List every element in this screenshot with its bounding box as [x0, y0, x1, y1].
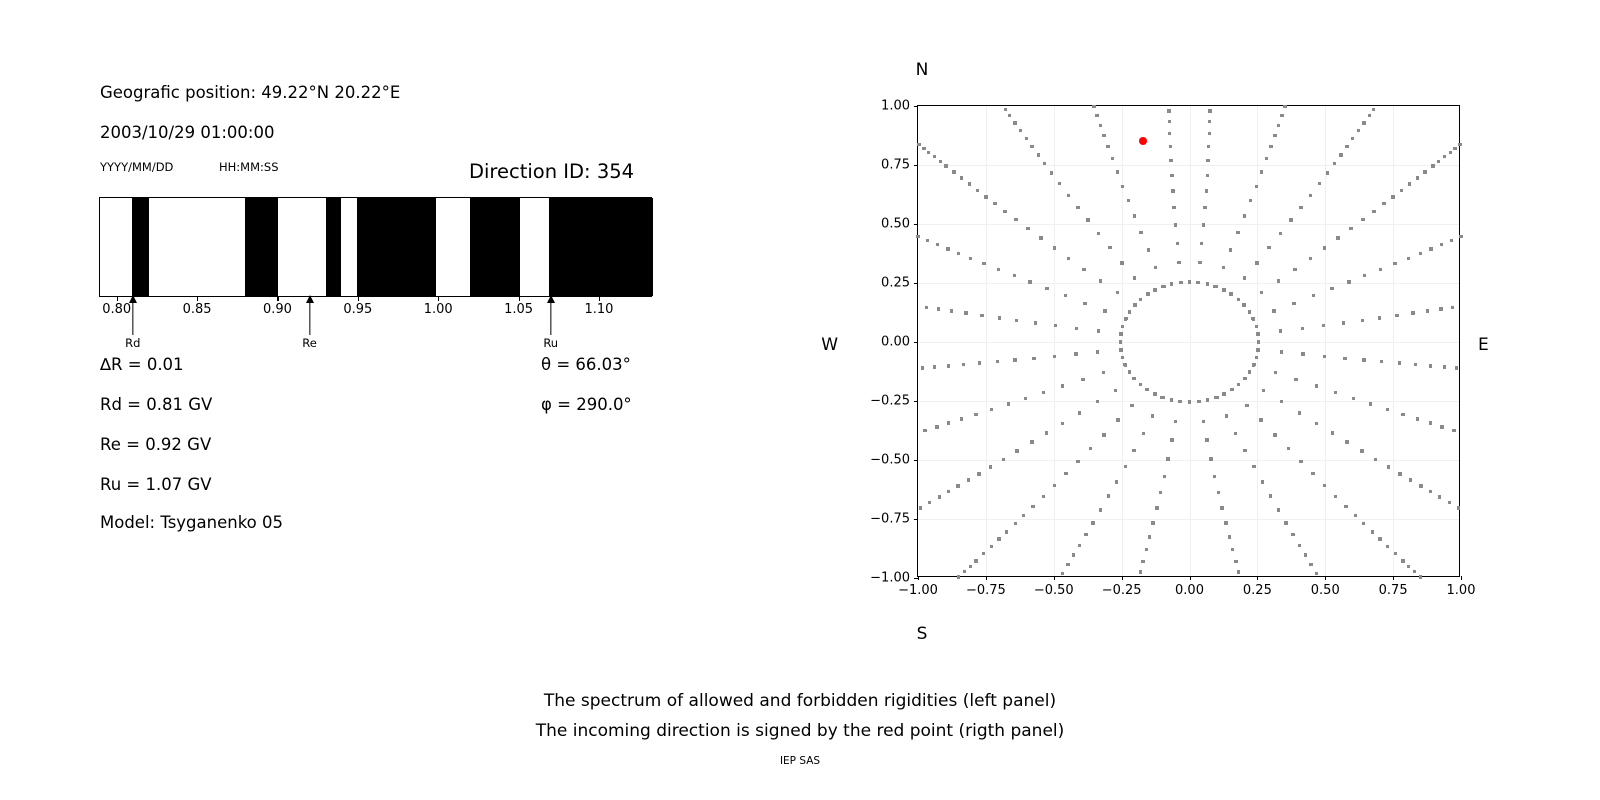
axis-tick-label: −0.25 [870, 394, 910, 409]
direction-point [1142, 432, 1145, 435]
direction-point [1169, 145, 1172, 148]
direction-point [1214, 396, 1217, 399]
direction-point [1124, 317, 1127, 320]
direction-point [947, 490, 950, 493]
arrow-up-icon [521, 295, 581, 335]
grid-line-vertical [1325, 106, 1326, 576]
direction-point [1106, 145, 1109, 148]
direction-point [1331, 431, 1334, 434]
axis-tick [914, 460, 918, 461]
direction-point [1426, 309, 1429, 312]
direction-point [1326, 171, 1329, 174]
direction-point [1323, 246, 1326, 249]
direction-point [1013, 358, 1016, 361]
direction-point [1042, 495, 1045, 498]
direction-point [1097, 329, 1100, 332]
direction-point [1064, 472, 1067, 475]
direction-point [1298, 411, 1301, 414]
axis-tick [914, 224, 918, 225]
direction-point [938, 495, 941, 498]
direction-point [1419, 252, 1422, 255]
direction-point [1255, 325, 1258, 328]
direction-point [1362, 121, 1365, 124]
axis-tick-label: 1.00 [424, 302, 453, 317]
rigidity-marker-ru: Ru [521, 295, 581, 350]
direction-point [1072, 553, 1075, 556]
direction-point [1261, 480, 1264, 483]
direction-point [1408, 182, 1411, 185]
direction-point [1429, 247, 1432, 250]
direction-point [1170, 398, 1173, 401]
direction-point [1361, 218, 1364, 221]
direction-point [1145, 548, 1148, 551]
direction-point [1236, 231, 1239, 234]
direction-point [1146, 293, 1149, 296]
axis-tick-label: 0.25 [1243, 583, 1272, 598]
direction-point [1168, 120, 1171, 123]
direction-point [1414, 363, 1417, 366]
direction-point [1243, 304, 1246, 307]
direction-point [1133, 377, 1136, 380]
direction-point [1089, 447, 1092, 450]
direction-point [1139, 570, 1142, 573]
axis-tick [1393, 576, 1394, 580]
direction-point [1148, 535, 1151, 538]
marker-label: Rd [103, 336, 163, 350]
direction-point [1287, 447, 1290, 450]
direction-point [1169, 159, 1172, 162]
direction-point [967, 478, 970, 481]
direction-point [1386, 408, 1389, 411]
direction-point [1167, 109, 1170, 112]
direction-point [1448, 501, 1451, 504]
direction-point [1398, 472, 1401, 475]
direction-point [976, 189, 979, 192]
direction-point [1255, 185, 1258, 188]
direction-point [984, 195, 987, 198]
direction-point [1378, 537, 1381, 540]
direction-point [1273, 433, 1276, 436]
direction-point [1121, 356, 1124, 359]
direction-point [1400, 189, 1403, 192]
direction-point [956, 484, 959, 487]
direction-point [1309, 257, 1312, 260]
direction-point [1361, 319, 1364, 322]
direction-point [993, 202, 996, 205]
direction-point [1243, 449, 1246, 452]
direction-point [1115, 480, 1118, 483]
direction-point [1015, 319, 1018, 322]
direction-point [1439, 307, 1442, 310]
axis-tick-label: 0.25 [881, 276, 910, 291]
figure-canvas: Geografic position: 49.22°N 20.22°E 2003… [0, 0, 1600, 800]
direction-point [1133, 276, 1136, 279]
direction-point [939, 160, 942, 163]
direction-point [1349, 227, 1352, 230]
direction-point [928, 501, 931, 504]
direction-point [1451, 306, 1454, 309]
direction-point [1111, 157, 1114, 160]
axis-tick-label: 0.75 [881, 158, 910, 173]
arrow-up-icon [103, 295, 163, 335]
axis-tick [914, 578, 918, 579]
direction-point [1061, 422, 1064, 425]
direction-point [957, 252, 960, 255]
direction-point [1166, 457, 1169, 460]
axis-tick [986, 576, 987, 580]
direction-point [1005, 530, 1008, 533]
direction-point [1368, 114, 1371, 117]
direction-point [1234, 432, 1237, 435]
direction-point [1213, 475, 1216, 478]
axis-tick [1190, 576, 1191, 580]
direction-point [1391, 195, 1394, 198]
direction-point [1330, 287, 1333, 290]
direction-point [963, 570, 966, 573]
direction-point [1024, 397, 1027, 400]
direction-point [1243, 214, 1246, 217]
direction-point [1078, 411, 1081, 414]
grid-line-horizontal [918, 165, 1459, 166]
direction-point [922, 147, 925, 150]
direction-point [1102, 134, 1105, 137]
direction-point [1222, 288, 1225, 291]
axis-tick-label: −0.75 [966, 583, 1006, 598]
direction-point [1214, 285, 1217, 288]
direction-point [1013, 274, 1016, 277]
direction-point [1333, 162, 1336, 165]
direction-point [1176, 242, 1179, 245]
direction-point [1269, 145, 1272, 148]
direction-point [1280, 400, 1283, 403]
direction-point [974, 559, 977, 562]
caption-line-2: The incoming direction is signed by the … [0, 716, 1600, 746]
direction-point [960, 176, 963, 179]
direction-point [1249, 199, 1252, 202]
grid-line-horizontal [918, 519, 1459, 520]
direction-point [1082, 268, 1085, 271]
direction-point [1315, 422, 1318, 425]
direction-point [1449, 151, 1452, 154]
marker-label: Re [280, 336, 340, 350]
grid-line-vertical [1054, 106, 1055, 576]
direction-point [1272, 309, 1275, 312]
direction-point [1252, 465, 1255, 468]
direction-point [1301, 327, 1304, 330]
direction-point [968, 182, 971, 185]
axis-tick-label: −0.50 [870, 453, 910, 468]
direction-point [1198, 261, 1201, 264]
direction-point [923, 429, 926, 432]
direction-point [946, 247, 949, 250]
direction-point [1154, 266, 1157, 269]
forbidden-band [549, 198, 653, 296]
direction-point [1382, 202, 1385, 205]
direction-point [962, 363, 965, 366]
direction-point [1133, 214, 1136, 217]
direction-point [1206, 159, 1209, 162]
direction-point [1416, 417, 1419, 420]
direction-point [1202, 223, 1205, 226]
direction-point [1153, 288, 1156, 291]
direction-point [1262, 389, 1265, 392]
direction-point [1139, 298, 1142, 301]
direction-point [926, 239, 929, 242]
direction-point [1203, 206, 1206, 209]
direction-point [1323, 484, 1326, 487]
axis-tick [358, 297, 359, 301]
axis-tick [914, 401, 918, 402]
direction-point [1102, 371, 1105, 374]
axis-tick-label: 0.00 [1175, 583, 1204, 598]
direction-point [1120, 261, 1123, 264]
direction-point [1032, 357, 1035, 360]
direction-point [1007, 402, 1010, 405]
direction-point [1097, 232, 1100, 235]
direction-point [1058, 182, 1061, 185]
direction-point [964, 311, 967, 314]
direction-point [1450, 239, 1453, 242]
direction-point [1139, 383, 1142, 386]
direction-point [1269, 494, 1272, 497]
axis-tick-label: 0.50 [1311, 583, 1340, 598]
direction-point [1026, 227, 1029, 230]
direction-point [1243, 377, 1246, 380]
direction-point [1172, 206, 1175, 209]
direction-point [1280, 114, 1283, 117]
direction-point [1256, 332, 1259, 335]
direction-point [1153, 392, 1156, 395]
direction-point [1343, 357, 1346, 360]
direction-point [1066, 563, 1069, 566]
direction-point [1292, 302, 1295, 305]
direction-point [1220, 506, 1223, 509]
direction-point [1177, 261, 1180, 264]
direction-point [1014, 218, 1017, 221]
direction-point [1224, 521, 1227, 524]
axis-tick [1054, 576, 1055, 580]
direction-point [933, 365, 936, 368]
axis-tick [918, 576, 919, 580]
direction-point [1339, 153, 1342, 156]
direction-point [1092, 105, 1095, 108]
direction-point [1416, 176, 1419, 179]
direction-point [1206, 282, 1209, 285]
direction-point [1078, 544, 1081, 547]
direction-point [1277, 124, 1280, 127]
axis-tick [599, 297, 600, 301]
direction-point [1107, 494, 1110, 497]
direction-point [1207, 145, 1210, 148]
direction-point [1003, 210, 1006, 213]
direction-point [1351, 137, 1354, 140]
direction-point [1222, 266, 1225, 269]
direction-point [1237, 383, 1240, 386]
direction-point [1217, 491, 1220, 494]
axis-tick [914, 519, 918, 520]
marker-label: Ru [521, 336, 581, 350]
direction-point [1168, 132, 1171, 135]
direction-point [982, 262, 985, 265]
direction-point [1315, 572, 1318, 575]
direction-point [1116, 418, 1119, 421]
direction-point [1081, 378, 1084, 381]
direction-point [1452, 429, 1455, 432]
rigidity-marker-rd: Rd [103, 295, 163, 350]
direction-point [1128, 370, 1131, 373]
direction-point [1225, 414, 1228, 417]
direction-point [1034, 321, 1037, 324]
direction-point [1299, 460, 1302, 463]
direction-point [1431, 164, 1434, 167]
direction-point [1039, 236, 1042, 239]
direction-point [1248, 310, 1251, 313]
direction-point [1301, 352, 1304, 355]
forbidden-band [245, 198, 278, 296]
direction-point [1061, 384, 1064, 387]
direction-point [960, 417, 963, 420]
direction-point [1401, 559, 1404, 562]
axis-tick [519, 297, 520, 301]
direction-point [1050, 171, 1053, 174]
direction-point [1045, 287, 1048, 290]
grid-line-vertical [1393, 106, 1394, 576]
direction-point [1205, 438, 1208, 441]
direction-point [952, 170, 955, 173]
direction-point [1280, 350, 1283, 353]
direction-point [1163, 475, 1166, 478]
direction-point [969, 565, 972, 568]
figure-footer: IEP SAS [0, 755, 1600, 767]
direction-point [1083, 302, 1086, 305]
direction-point [1438, 495, 1441, 498]
direction-point [1095, 114, 1098, 117]
direction-point [1411, 311, 1414, 314]
direction-point [1294, 378, 1297, 381]
direction-point [1139, 231, 1142, 234]
direction-point [1208, 132, 1211, 135]
axis-tick-label: 1.10 [584, 302, 613, 317]
direction-point [921, 366, 924, 369]
direction-point [997, 537, 1000, 540]
direction-point [1022, 514, 1025, 517]
direction-point [977, 472, 980, 475]
direction-point [1054, 324, 1057, 327]
direction-point [1061, 572, 1064, 575]
direction-point [1255, 261, 1258, 264]
direction-point [1387, 465, 1390, 468]
direction-point [1323, 355, 1326, 358]
direction-point [1074, 352, 1077, 355]
direction-point [1099, 508, 1102, 511]
direction-point [1230, 293, 1233, 296]
direction-point [996, 360, 999, 363]
direction-point [1429, 421, 1432, 424]
direction-point [1311, 472, 1314, 475]
direction-point [1121, 325, 1124, 328]
direction-point [1197, 281, 1200, 284]
direction-point [1274, 371, 1277, 374]
axis-tick [1122, 576, 1123, 580]
axis-tick [914, 165, 918, 166]
direction-point [1064, 294, 1067, 297]
direction-point [1002, 458, 1005, 461]
direction-point [1179, 400, 1182, 403]
direction-point [1255, 356, 1258, 359]
compass-south-label: S [917, 624, 928, 644]
param-phi: φ = 290.0° [541, 395, 632, 414]
axis-tick-label: −0.50 [1034, 583, 1074, 598]
direction-point [1291, 533, 1294, 536]
direction-point [935, 425, 938, 428]
rigidity-marker-re: Re [280, 295, 340, 350]
direction-point [1309, 194, 1312, 197]
direction-point [1170, 282, 1173, 285]
direction-point [1289, 218, 1292, 221]
direction-point [1102, 433, 1105, 436]
compass-west-label: W [821, 335, 838, 355]
arrow-up-icon [280, 295, 340, 335]
axis-tick [914, 283, 918, 284]
direction-point [1170, 438, 1173, 441]
direction-point [916, 235, 919, 238]
direction-point [1395, 314, 1398, 317]
direction-point [1028, 280, 1031, 283]
direction-point [1455, 366, 1458, 369]
direction-point [1260, 170, 1263, 173]
direction-point [1284, 521, 1287, 524]
direction-point [1459, 235, 1462, 238]
direction-point [1380, 360, 1383, 363]
direction-point [1091, 521, 1094, 524]
direction-point [1457, 506, 1460, 509]
direction-point [969, 257, 972, 260]
forbidden-band [357, 198, 436, 296]
axis-tick-label: 0.75 [1379, 583, 1408, 598]
direction-point [1229, 248, 1232, 251]
direction-point [919, 506, 922, 509]
direction-point [1096, 350, 1099, 353]
grid-line-horizontal [918, 224, 1459, 225]
direction-point [1419, 575, 1422, 578]
right-panel: −1.00−0.75−0.50−0.250.000.250.500.751.00… [760, 0, 1600, 800]
direction-point [1230, 388, 1233, 391]
direction-point [1053, 246, 1056, 249]
direction-point [1171, 189, 1174, 192]
direction-point [1277, 508, 1280, 511]
axis-tick-label: −0.75 [870, 512, 910, 527]
direction-point [1197, 400, 1200, 403]
direction-point [1413, 570, 1416, 573]
direction-point [1084, 533, 1087, 536]
direction-point [1440, 243, 1443, 246]
direction-point [1228, 535, 1231, 538]
direction-point [1352, 397, 1355, 400]
axis-tick-label: 1.00 [1447, 583, 1476, 598]
param-model: Model: Tsyganenko 05 [100, 513, 283, 532]
axis-tick-label: 0.00 [881, 335, 910, 350]
direction-point [1209, 457, 1212, 460]
direction-point [1042, 391, 1045, 394]
time-format-hint: HH:MM:SS [219, 160, 279, 174]
direction-point [980, 314, 983, 317]
direction-point [1234, 560, 1237, 563]
direction-point [1394, 552, 1397, 555]
direction-point [1099, 279, 1102, 282]
direction-point [1345, 145, 1348, 148]
geographic-position-label: Geografic position: 49.22°N 20.22°E [100, 83, 400, 102]
direction-point [1076, 460, 1079, 463]
